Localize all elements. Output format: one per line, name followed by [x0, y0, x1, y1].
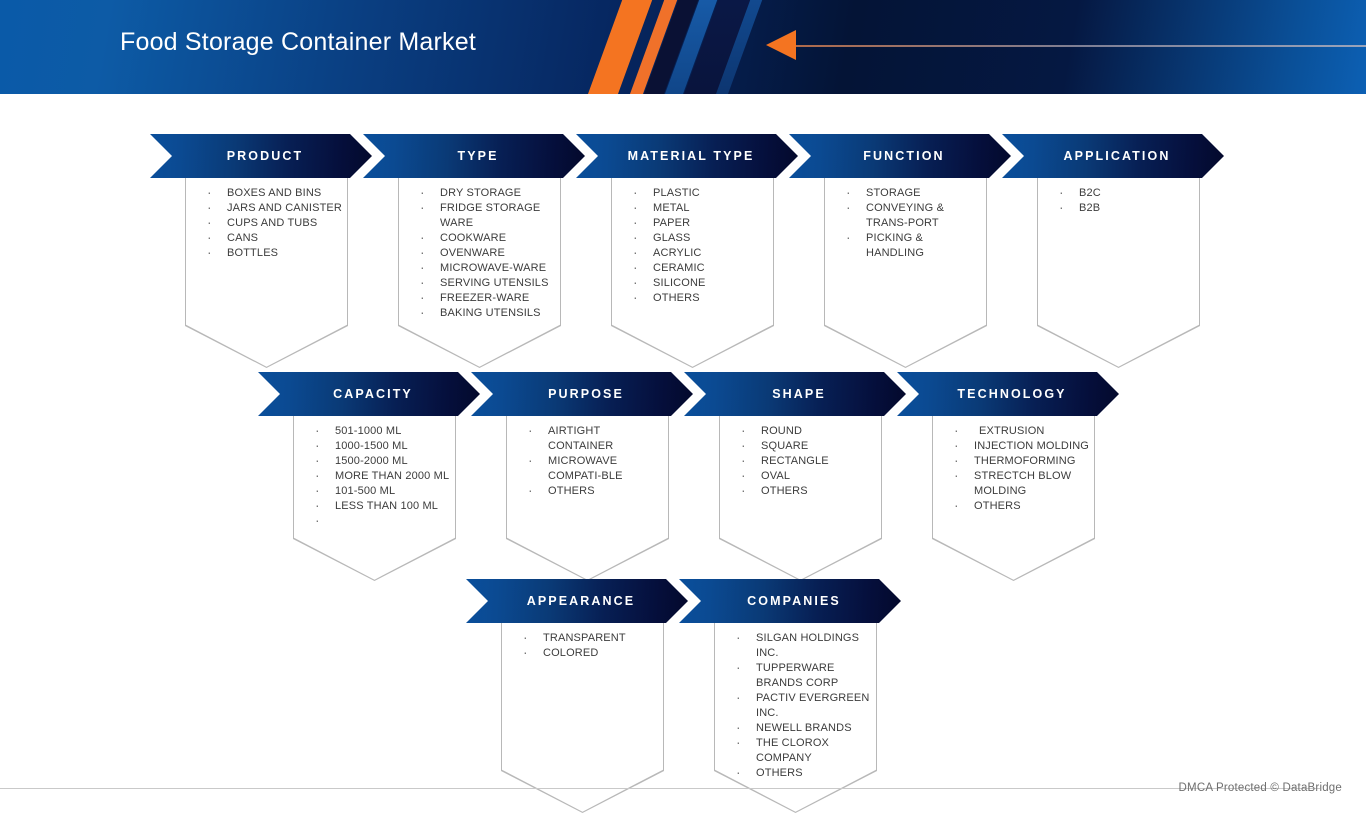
segment-item-list: SILGAN HOLDINGS INC.TUPPERWARE BRANDS CO… — [714, 631, 877, 781]
list-item: OVAL — [735, 469, 876, 484]
list-item: THE CLOROX COMPANY — [730, 736, 871, 766]
list-item: B2C — [1053, 186, 1194, 201]
list-item: CERAMIC — [627, 261, 768, 276]
segment-body-purpose: AIRTIGHT CONTAINERMICROWAVE COMPATI-BLEO… — [506, 416, 669, 581]
segment-header-label: PRODUCT — [150, 134, 372, 178]
list-item: FREEZER-WARE — [414, 291, 555, 306]
list-item: SILGAN HOLDINGS INC. — [730, 631, 871, 661]
list-item: DRY STORAGE — [414, 186, 555, 201]
segment-header-label: FUNCTION — [789, 134, 1011, 178]
list-item: 101-500 ML — [309, 484, 450, 499]
list-item: GLASS — [627, 231, 768, 246]
list-item: CONVEYING & TRANS-PORT — [840, 201, 981, 231]
list-item: THERMOFORMING — [948, 454, 1089, 469]
list-item: NEWELL BRANDS — [730, 721, 871, 736]
list-item: BOXES AND BINS — [201, 186, 342, 201]
segment-item-list: B2CB2B — [1037, 186, 1200, 216]
segment-body-application: B2CB2B — [1037, 178, 1200, 368]
list-item: EXTRUSION — [948, 424, 1089, 439]
segment-header-capacity[interactable]: CAPACITY — [258, 372, 480, 416]
list-item: SQUARE — [735, 439, 876, 454]
list-item: 1500-2000 ML — [309, 454, 450, 469]
segment-header-label: TECHNOLOGY — [897, 372, 1119, 416]
list-item: METAL — [627, 201, 768, 216]
list-item: SERVING UTENSILS — [414, 276, 555, 291]
list-item: BOTTLES — [201, 246, 342, 261]
segment-header-product[interactable]: PRODUCT — [150, 134, 372, 178]
list-item: MICROWAVE COMPATI-BLE — [522, 454, 663, 484]
segment-body-companies: SILGAN HOLDINGS INC.TUPPERWARE BRANDS CO… — [714, 623, 877, 813]
segment-item-list: PLASTICMETALPAPERGLASSACRYLICCERAMICSILI… — [611, 186, 774, 306]
segment-item-list: AIRTIGHT CONTAINERMICROWAVE COMPATI-BLEO… — [506, 424, 669, 499]
list-item: JARS AND CANISTER — [201, 201, 342, 216]
list-item: OTHERS — [948, 499, 1089, 514]
list-item: BAKING UTENSILS — [414, 306, 555, 321]
list-item: MICROWAVE-WARE — [414, 261, 555, 276]
list-item: FRIDGE STORAGE WARE — [414, 201, 555, 231]
list-item: B2B — [1053, 201, 1194, 216]
segment-item-list: TRANSPARENTCOLORED — [501, 631, 664, 661]
list-item: PAPER — [627, 216, 768, 231]
list-item: 1000-1500 ML — [309, 439, 450, 454]
segment-header-function[interactable]: FUNCTION — [789, 134, 1011, 178]
segment-body-capacity: 501-1000 ML1000-1500 ML1500-2000 MLMORE … — [293, 416, 456, 581]
segment-header-purpose[interactable]: PURPOSE — [471, 372, 693, 416]
segment-body-product: BOXES AND BINSJARS AND CANISTERCUPS AND … — [185, 178, 348, 368]
list-item: ROUND — [735, 424, 876, 439]
header-arrow-line — [795, 45, 1366, 47]
list-item: TUPPERWARE BRANDS CORP — [730, 661, 871, 691]
segment-body-type: DRY STORAGEFRIDGE STORAGE WARECOOKWAREOV… — [398, 178, 561, 368]
list-item: 501-1000 ML — [309, 424, 450, 439]
segment-body-technology: EXTRUSIONINJECTION MOLDINGTHERMOFORMINGS… — [932, 416, 1095, 581]
list-item: CUPS AND TUBS — [201, 216, 342, 231]
list-item: MORE THAN 2000 ML — [309, 469, 450, 484]
list-item: INJECTION MOLDING — [948, 439, 1089, 454]
segment-header-label: PURPOSE — [471, 372, 693, 416]
list-item: PICKING & HANDLING — [840, 231, 981, 261]
segment-header-label: MATERIAL TYPE — [576, 134, 798, 178]
list-item: STRECTCH BLOW MOLDING — [948, 469, 1089, 499]
segment-item-list: DRY STORAGEFRIDGE STORAGE WARECOOKWAREOV… — [398, 186, 561, 321]
list-item: PLASTIC — [627, 186, 768, 201]
list-item: CANS — [201, 231, 342, 246]
footer-credit: DMCA Protected © DataBridge — [1179, 782, 1342, 794]
segment-header-companies[interactable]: COMPANIES — [679, 579, 901, 623]
segment-item-list: EXTRUSIONINJECTION MOLDINGTHERMOFORMINGS… — [932, 424, 1095, 514]
segment-header-label: CAPACITY — [258, 372, 480, 416]
segment-item-list: BOXES AND BINSJARS AND CANISTERCUPS AND … — [185, 186, 348, 261]
list-item: SILICONE — [627, 276, 768, 291]
segment-header-label: APPEARANCE — [466, 579, 688, 623]
segment-header-type[interactable]: TYPE — [363, 134, 585, 178]
list-item: LESS THAN 100 ML — [309, 499, 450, 514]
list-item: OTHERS — [627, 291, 768, 306]
list-item: COLORED — [517, 646, 658, 661]
segment-item-list: 501-1000 ML1000-1500 ML1500-2000 MLMORE … — [293, 424, 456, 514]
segment-item-list: STORAGECONVEYING & TRANS-PORTPICKING & H… — [824, 186, 987, 261]
list-item: RECTANGLE — [735, 454, 876, 469]
list-item: OTHERS — [522, 484, 663, 499]
list-item: COOKWARE — [414, 231, 555, 246]
list-item: ACRYLIC — [627, 246, 768, 261]
segment-header-appearance[interactable]: APPEARANCE — [466, 579, 688, 623]
list-item: TRANSPARENT — [517, 631, 658, 646]
list-item: STORAGE — [840, 186, 981, 201]
segment-header-application[interactable]: APPLICATION — [1002, 134, 1224, 178]
segment-header-label: APPLICATION — [1002, 134, 1224, 178]
page-header-band: Food Storage Container Market — [0, 0, 1366, 94]
list-item: OTHERS — [730, 766, 871, 781]
footer-divider — [0, 788, 1320, 789]
segment-header-technology[interactable]: TECHNOLOGY — [897, 372, 1119, 416]
segment-body-appearance: TRANSPARENTCOLORED — [501, 623, 664, 813]
segment-body-function: STORAGECONVEYING & TRANS-PORTPICKING & H… — [824, 178, 987, 368]
segment-header-label: COMPANIES — [679, 579, 901, 623]
left-arrow-icon — [766, 30, 796, 60]
segment-header-shape[interactable]: SHAPE — [684, 372, 906, 416]
segment-header-label: SHAPE — [684, 372, 906, 416]
segment-body-shape: ROUNDSQUARERECTANGLEOVALOTHERS — [719, 416, 882, 581]
segment-item-list: ROUNDSQUARERECTANGLEOVALOTHERS — [719, 424, 882, 499]
segmentation-diagram: PRODUCTBOXES AND BINSJARS AND CANISTERCU… — [0, 94, 1366, 808]
page-title: Food Storage Container Market — [120, 28, 476, 57]
list-item: OVENWARE — [414, 246, 555, 261]
list-item: OTHERS — [735, 484, 876, 499]
list-item: PACTIV EVERGREEN INC. — [730, 691, 871, 721]
segment-header-label: TYPE — [363, 134, 585, 178]
segment-body-material-type: PLASTICMETALPAPERGLASSACRYLICCERAMICSILI… — [611, 178, 774, 368]
list-item: AIRTIGHT CONTAINER — [522, 424, 663, 454]
segment-header-material-type[interactable]: MATERIAL TYPE — [576, 134, 798, 178]
